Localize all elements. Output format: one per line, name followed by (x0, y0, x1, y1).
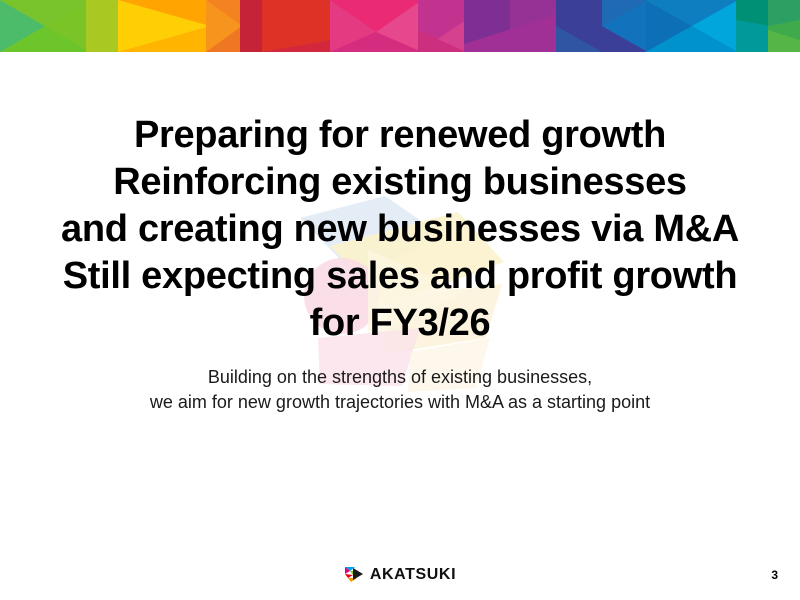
title-line-5: for FY3/26 (0, 300, 800, 347)
decorative-color-band (0, 0, 800, 52)
page-title: Preparing for renewed growth Reinforcing… (0, 112, 800, 347)
page-number: 3 (771, 568, 778, 582)
page-subtitle: Building on the strengths of existing bu… (0, 365, 800, 415)
slide-canvas: Preparing for renewed growth Reinforcing… (0, 0, 800, 600)
subtitle-line-1: Building on the strengths of existing bu… (0, 365, 800, 390)
title-line-3: and creating new businesses via M&A (0, 206, 800, 253)
title-line-2: Reinforcing existing businesses (0, 159, 800, 206)
akatsuki-arrow-mark-icon (344, 566, 364, 583)
subtitle-line-2: we aim for new growth trajectories with … (0, 390, 800, 415)
akatsuki-logo-text: AKATSUKI (370, 566, 456, 583)
title-line-1: Preparing for renewed growth (0, 112, 800, 159)
footer-logo: AKATSUKI (0, 566, 800, 583)
title-line-4: Still expecting sales and profit growth (0, 253, 800, 300)
